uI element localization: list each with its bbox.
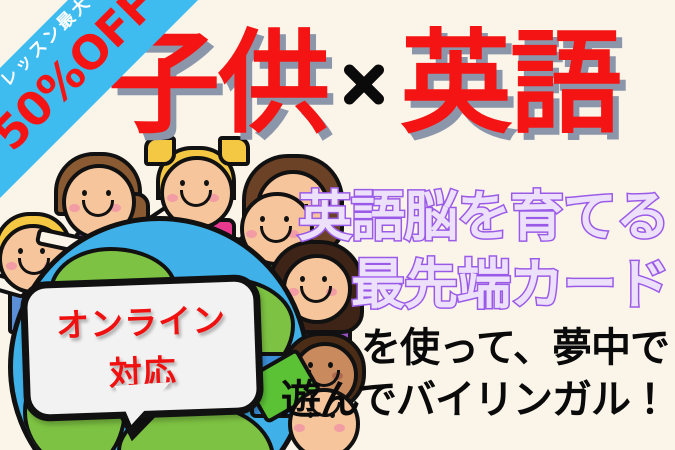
speech-bubble-tail-fill: [115, 382, 174, 426]
title-right-word: 英語: [400, 28, 620, 140]
kid-cheek: [69, 204, 80, 212]
purple-headline: 英語脳を育てる 最先端カード: [298, 183, 669, 319]
kid-eye: [284, 216, 289, 222]
kid-eye: [180, 180, 185, 186]
kid-eye: [106, 190, 111, 196]
purple-headline-line1: 英語脳を育てる: [298, 183, 669, 251]
kid-eye: [204, 180, 209, 186]
promo-banner: オンライン 対応 子供 英語 英語脳を育てる 最先端カード を使って、夢中で 遊…: [0, 0, 675, 450]
black-subcopy: を使って、夢中で 遊んでバイリンガル！: [281, 322, 669, 426]
black-subcopy-line1: を使って、夢中で: [281, 322, 669, 374]
kid-eye: [260, 216, 265, 222]
kid-eye: [18, 248, 23, 254]
main-title: 子供 英語: [108, 28, 620, 140]
kid-cheek: [167, 194, 178, 202]
purple-headline-line2: 最先端カード: [298, 251, 669, 319]
kid-eye: [82, 190, 87, 196]
kid-cheek: [246, 230, 257, 238]
black-subcopy-line2: 遊んでバイリンガル！: [281, 374, 669, 426]
kid-cheek: [6, 262, 17, 270]
cross-icon: [332, 52, 396, 116]
